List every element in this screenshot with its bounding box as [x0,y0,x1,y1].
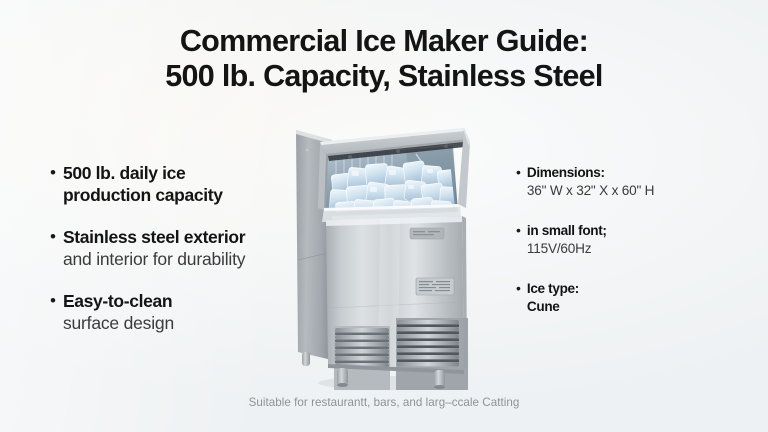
list-item-primary: in small font; [527,222,748,240]
list-item-secondary: surface design [63,313,308,335]
bullet-dot-icon: • [516,221,521,240]
bullet-dot-icon: • [516,279,521,298]
list-item-secondary: 36" W x 32" X x 60" H [527,182,748,200]
title-line-2: 500 lb. Capacity, Stainless Steel [0,59,768,94]
page-title: Commercial Ice Maker Guide: 500 lb. Capa… [0,24,768,94]
commercial-ice-maker-photo [288,112,488,390]
footer-caption: Suitable for restaurantt, bars, and larg… [0,396,768,409]
list-item: • Dimensions: 36" W x 32" X x 60" H [516,164,748,199]
list-item-primary: Easy-to-clean [63,291,308,313]
bullet-dot-icon: • [50,290,56,311]
title-line-1: Commercial Ice Maker Guide: [0,24,768,59]
list-item: • Ice type: Cune [516,280,748,315]
list-item-primary: Stainless steel exterior [63,227,308,249]
specs-list-right: • Dimensions: 36" W x 32" X x 60" H • in… [516,164,748,338]
rating-label-plate [416,278,454,295]
list-item: • Stainless steel exterior and interior … [50,227,308,270]
list-item: • 500 lb. daily ice production capacity [50,163,308,206]
list-item-primary: 500 lb. daily ice [63,163,308,185]
list-item: • Easy-to-clean surface design [50,291,308,334]
features-list-left: • 500 lb. daily ice production capacity … [50,163,308,355]
list-item-primary: Dimensions: [527,164,748,182]
front-vent-right [396,318,468,390]
list-item-secondary: Cune [527,298,748,316]
bullet-dot-icon: • [50,226,56,247]
list-item-primary: Ice type: [527,280,748,298]
slide-canvas: Commercial Ice Maker Guide: 500 lb. Capa… [0,0,768,432]
list-item-secondary: and interior for durability [63,249,308,271]
list-item: • in small font; 115V/60Hz [516,222,748,257]
brand-plate [410,228,444,239]
list-item-secondary: 115V/60Hz [527,240,748,258]
list-item-secondary: production capacity [63,185,308,207]
bullet-dot-icon: • [516,163,521,182]
bullet-dot-icon: • [50,162,56,183]
